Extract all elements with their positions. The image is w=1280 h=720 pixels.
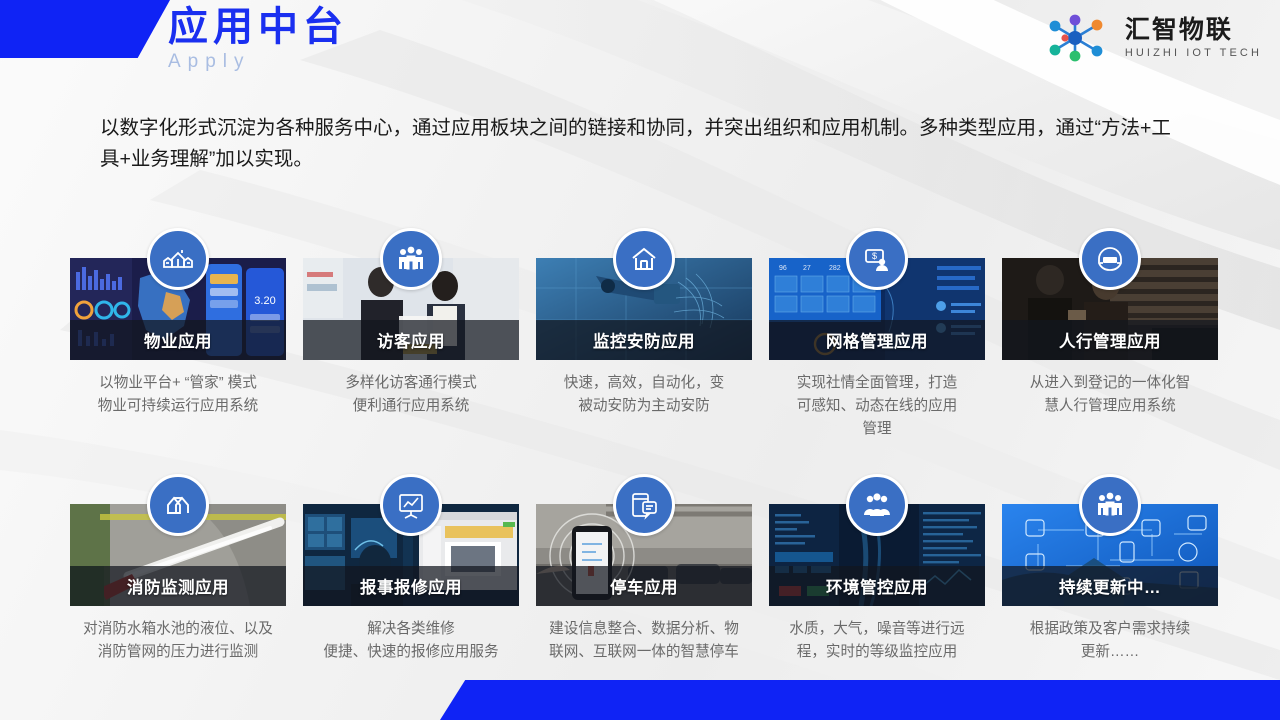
logo-text: 汇智物联 HUIZHI IOT TECH: [1125, 16, 1262, 60]
card-title: 访客应用: [377, 328, 445, 352]
svg-text:3.20: 3.20: [254, 295, 275, 307]
app-card-fire-monitoring[interactable]: 消防监测应用 对消防水箱水池的液位、以及 消防管网的压力进行监测: [70, 474, 286, 664]
app-card-grid-management[interactable]: $ 9627282148: [769, 228, 985, 441]
card-row-2: 消防监测应用 对消防水箱水池的液位、以及 消防管网的压力进行监测: [70, 474, 1215, 664]
card-title: 停车应用: [610, 574, 678, 598]
house-community-icon: [147, 228, 209, 290]
card-title-band: 物业应用: [70, 320, 286, 360]
app-card-environment[interactable]: 环境管控应用 水质，大气，噪音等进行远 程，实时的等级监控应用: [769, 474, 985, 664]
people-group-icon: [1079, 474, 1141, 536]
card-title-band: 消防监测应用: [70, 566, 286, 606]
card-title: 消防监测应用: [127, 574, 229, 598]
card-title-band: 网格管理应用: [769, 320, 985, 360]
card-title-band: 环境管控应用: [769, 566, 985, 606]
network-molecule-icon: [1041, 12, 1115, 64]
card-title-band: 持续更新中…: [1002, 566, 1218, 606]
application-card-grid: 3.20 物业应用 以物业平台+ “管家” 模式 物业可持续运行应用系统: [70, 228, 1215, 664]
card-title: 网格管理应用: [826, 328, 928, 352]
card-title: 人行管理应用: [1059, 328, 1161, 352]
svg-text:$: $: [872, 251, 877, 261]
card-title: 物业应用: [144, 328, 212, 352]
app-card-parking[interactable]: 停车应用 建设信息整合、数据分析、物 联网、互联网一体的智慧停车: [536, 474, 752, 664]
card-title: 报事报修应用: [360, 574, 462, 598]
intro-paragraph: 以数字化形式沉淀为各种服务中心，通过应用板块之间的链接和协同，并突出组织和应用机…: [100, 113, 1180, 175]
card-title-band: 监控安防应用: [536, 320, 752, 360]
mobile-message-icon: [613, 474, 675, 536]
card-description: 水质，大气，噪音等进行远 程，实时的等级监控应用: [769, 618, 985, 664]
title-block: 应用中台 Apply: [168, 4, 348, 73]
card-description: 解决各类维修 便捷、快速的报修应用服务: [303, 618, 519, 664]
bottom-accent-bar: [440, 680, 1280, 720]
app-card-visitor[interactable]: 访客应用 多样化访客通行模式 便利通行应用系统: [303, 228, 519, 441]
people-group-icon: [380, 228, 442, 290]
app-card-pedestrian[interactable]: 人行管理应用 从进入到登记的一体化智 慧人行管理应用系统: [1002, 228, 1218, 441]
card-row-1: 3.20 物业应用 以物业平台+ “管家” 模式 物业可持续运行应用系统: [70, 228, 1215, 441]
card-description: 以物业平台+ “管家” 模式 物业可持续运行应用系统: [70, 372, 286, 418]
app-card-surveillance[interactable]: 监控安防应用 快速，高效，自动化，变 被动安防为主动安防: [536, 228, 752, 441]
page-header: 应用中台 Apply 汇智物联 HUIZHI IOT TECH: [0, 0, 1280, 90]
svg-text:282: 282: [829, 265, 841, 272]
logo-name-cn: 汇智物联: [1125, 16, 1262, 44]
face-recognition-icon: [1079, 228, 1141, 290]
card-description: 从进入到登记的一体化智 慧人行管理应用系统: [1002, 372, 1218, 418]
home-security-icon: [613, 228, 675, 290]
svg-text:27: 27: [803, 265, 811, 272]
app-card-continuous-update[interactable]: 持续更新中… 根据政策及客户需求持续 更新……: [1002, 474, 1218, 664]
crowd-icon: [846, 474, 908, 536]
card-description: 实现社情全面管理，打造 可感知、动态在线的应用 管理: [769, 372, 985, 441]
app-card-repair-report[interactable]: 报事报修应用 解决各类维修 便捷、快速的报修应用服务: [303, 474, 519, 664]
page-title: 应用中台: [168, 4, 348, 50]
card-description: 快速，高效，自动化，变 被动安防为主动安防: [536, 372, 752, 418]
payment-person-icon: $: [846, 228, 908, 290]
page-subtitle: Apply: [168, 51, 348, 73]
app-card-property[interactable]: 3.20 物业应用 以物业平台+ “管家” 模式 物业可持续运行应用系统: [70, 228, 286, 441]
svg-text:96: 96: [779, 265, 787, 272]
company-logo: 汇智物联 HUIZHI IOT TECH: [1041, 12, 1262, 64]
card-title: 监控安防应用: [593, 328, 695, 352]
chart-board-icon: [380, 474, 442, 536]
card-title-band: 报事报修应用: [303, 566, 519, 606]
card-title: 持续更新中…: [1059, 574, 1161, 598]
card-description: 多样化访客通行模式 便利通行应用系统: [303, 372, 519, 418]
card-title-band: 人行管理应用: [1002, 320, 1218, 360]
fire-monitor-icon: [147, 474, 209, 536]
card-description: 建设信息整合、数据分析、物 联网、互联网一体的智慧停车: [536, 618, 752, 664]
card-title: 环境管控应用: [826, 574, 928, 598]
card-description: 根据政策及客户需求持续 更新……: [1002, 618, 1218, 664]
card-title-band: 访客应用: [303, 320, 519, 360]
logo-name-en: HUIZHI IOT TECH: [1125, 46, 1262, 60]
card-title-band: 停车应用: [536, 566, 752, 606]
card-description: 对消防水箱水池的液位、以及 消防管网的压力进行监测: [70, 618, 286, 664]
